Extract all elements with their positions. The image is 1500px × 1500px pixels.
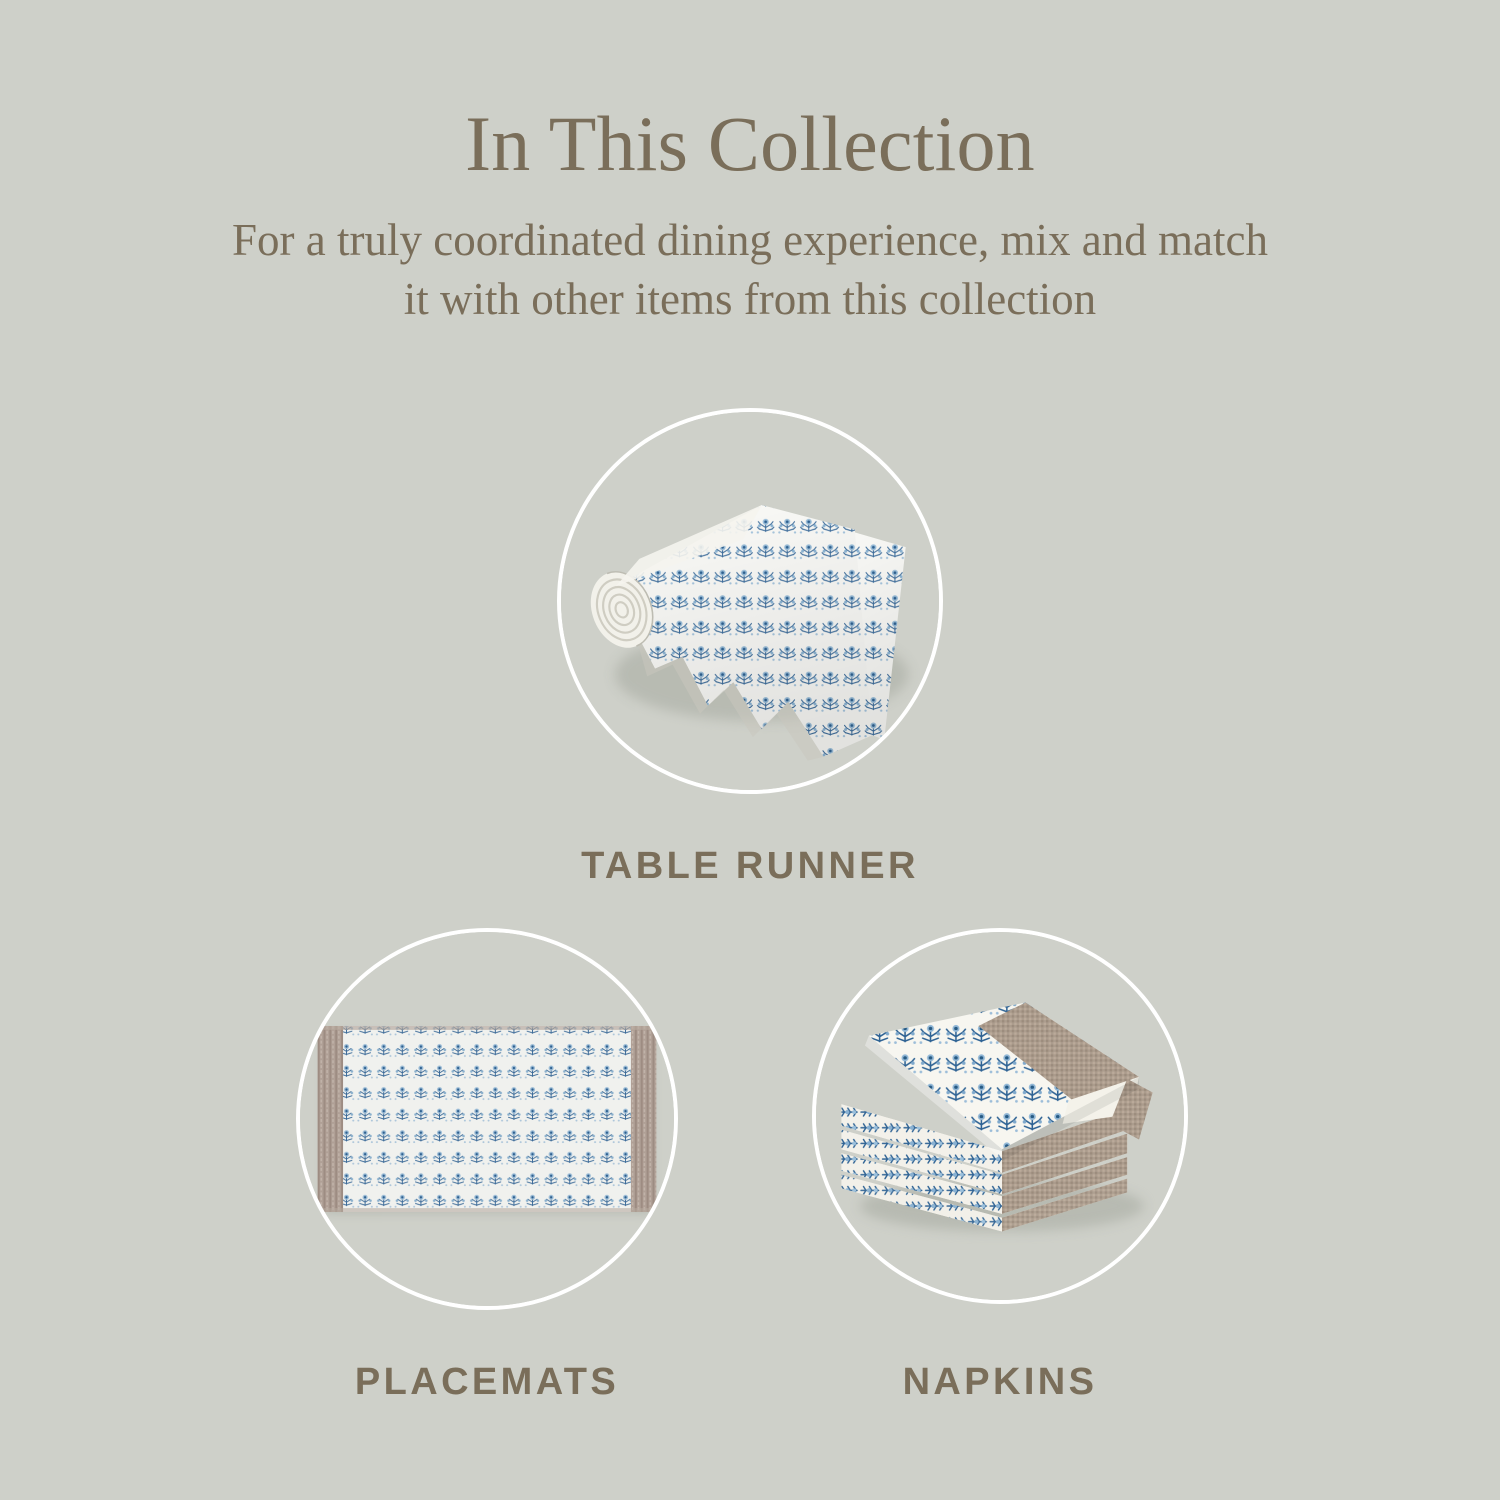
product-placemats[interactable]: PLACEMATS [296, 928, 678, 1428]
product-table-runner[interactable]: TABLE RUNNER [557, 408, 943, 908]
napkins-photo [816, 932, 1184, 1300]
napkins-image-circle[interactable] [812, 928, 1188, 1304]
product-napkins[interactable]: NAPKINS [812, 928, 1188, 1428]
product-label-napkins: NAPKINS [812, 1361, 1188, 1404]
page-subtitle: For a truly coordinated dining experienc… [90, 183, 1410, 330]
page-header: In This Collection For a truly coordinat… [0, 0, 1500, 330]
collection-page: In This Collection For a truly coordinat… [0, 0, 1500, 1500]
page-title: In This Collection [0, 0, 1500, 183]
table-runner-photo [561, 412, 939, 790]
product-label-table-runner: TABLE RUNNER [557, 845, 943, 888]
placemats-photo [300, 932, 674, 1306]
page-subtitle-line-1: For a truly coordinated dining experienc… [90, 211, 1410, 270]
table-runner-image-circle[interactable] [557, 408, 943, 794]
product-label-placemats: PLACEMATS [296, 1361, 678, 1404]
page-subtitle-line-2: it with other items from this collection [90, 270, 1410, 329]
placemats-image-circle[interactable] [296, 928, 678, 1310]
